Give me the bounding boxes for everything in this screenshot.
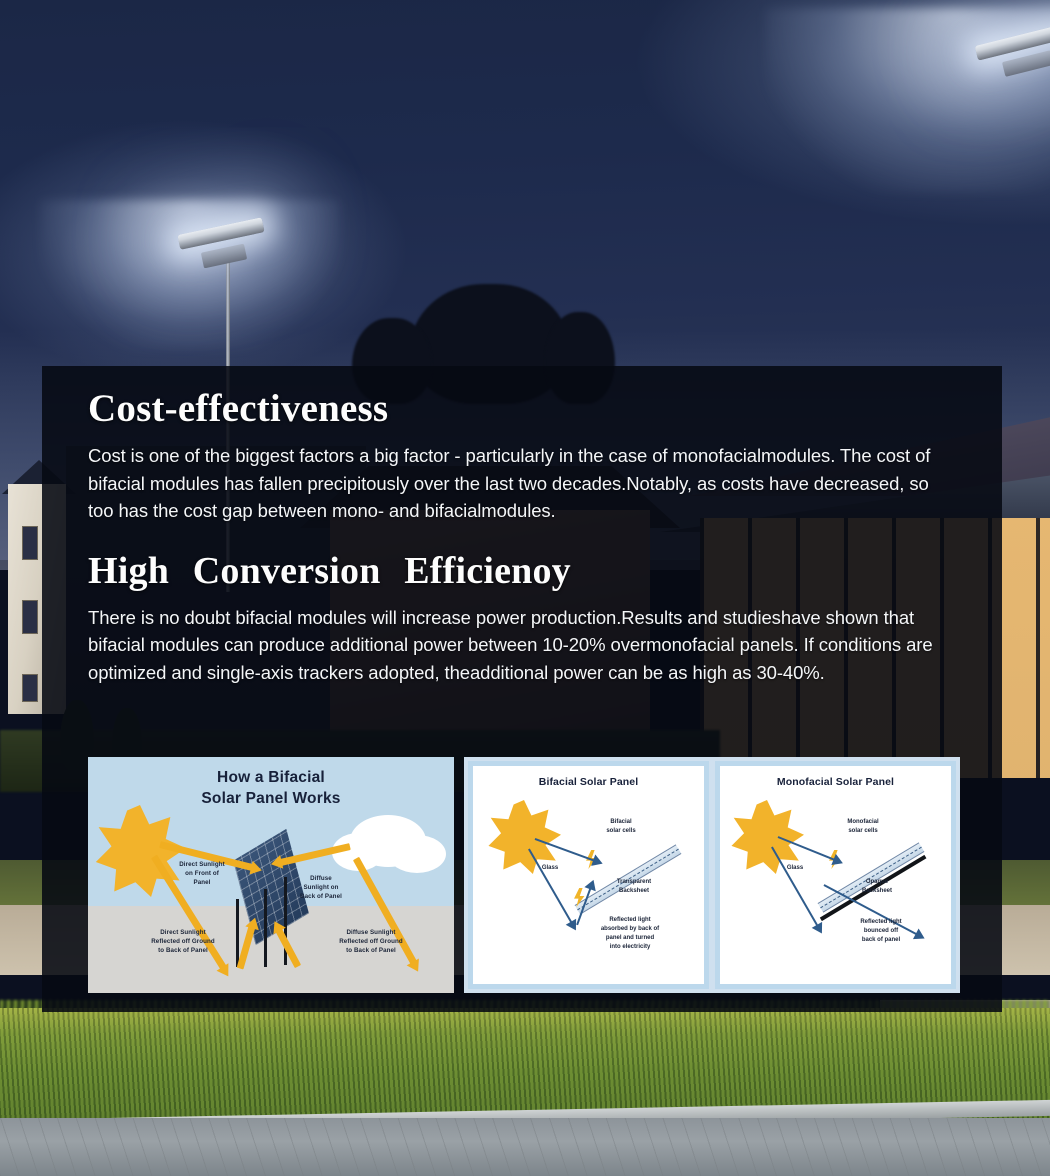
diagram-title-line-2: Solar Panel Works xyxy=(88,789,454,810)
label-diffuse-reflected: Diffuse Sunlight Reflected off Ground to… xyxy=(320,929,422,955)
diagram-title: How a Bifacial Solar Panel Works xyxy=(88,768,454,809)
window xyxy=(22,526,38,560)
product-detail-page: Cost-effectiveness Cost is one of the bi… xyxy=(0,0,1050,1176)
light-beam xyxy=(40,200,340,350)
foreground-paved-path xyxy=(0,1118,1050,1176)
sun-icon xyxy=(487,800,561,874)
window xyxy=(22,600,38,634)
label-glass: Glass xyxy=(531,864,569,873)
label-transparent-backsheet: Transparent Backsheet xyxy=(601,878,667,896)
label-opaque-backsheet: Opaque Backsheet xyxy=(846,878,908,896)
diagram-comparison[interactable]: Bifacial Solar Panel Bifacial solar cell… xyxy=(464,757,960,993)
label-direct-reflected: Direct Sunlight Reflected off Ground to … xyxy=(134,929,232,955)
light-beam xyxy=(765,8,1050,193)
solar-street-light-left xyxy=(160,218,280,388)
diagram-title: Monofacial Solar Panel xyxy=(720,776,951,788)
solar-street-light-top-right xyxy=(955,28,1050,148)
section-heading-cost-effectiveness: Cost-effectiveness xyxy=(88,388,957,429)
label-bifacial-solar-cells: Bifacial solar cells xyxy=(591,818,651,836)
section-heading-high-conversion-efficiency: High Conversion Efficienoy xyxy=(88,551,957,591)
sun-icon xyxy=(730,800,804,874)
section-body-cost-effectiveness: Cost is one of the biggest factors a big… xyxy=(88,442,957,524)
window xyxy=(22,674,38,702)
label-reflected-light: Reflected light bounced off back of pane… xyxy=(840,918,922,945)
diagram-monofacial-solar-panel[interactable]: Monofacial Solar Panel Monofacial solar … xyxy=(715,761,956,989)
diagram-how-bifacial-works[interactable]: How a Bifacial Solar Panel Works xyxy=(88,757,454,993)
label-direct-sunlight-front: Direct Sunlight on Front of Panel xyxy=(166,861,238,887)
diagram-gallery: How a Bifacial Solar Panel Works xyxy=(88,757,960,993)
label-glass: Glass xyxy=(776,864,814,873)
text-content: Cost-effectiveness Cost is one of the bi… xyxy=(42,366,1002,686)
content-overlay-panel: Cost-effectiveness Cost is one of the bi… xyxy=(42,366,1002,1012)
diagram-bifacial-solar-panel[interactable]: Bifacial Solar Panel Bifacial solar cell… xyxy=(468,761,709,989)
cloud-icon xyxy=(388,835,446,873)
diagram-title: Bifacial Solar Panel xyxy=(473,776,704,788)
section-body-high-conversion-efficiency: There is no doubt bifacial modules will … xyxy=(88,604,957,686)
diagram-title-line-1: How a Bifacial xyxy=(88,768,454,789)
label-reflected-light: Reflected light absorbed by back of pane… xyxy=(585,916,675,952)
label-diffuse-sunlight-back: Diffuse Sunlight on Back of Panel xyxy=(284,875,358,901)
panel-leg xyxy=(264,889,267,967)
label-monofacial-solar-cells: Monofacial solar cells xyxy=(832,818,894,836)
